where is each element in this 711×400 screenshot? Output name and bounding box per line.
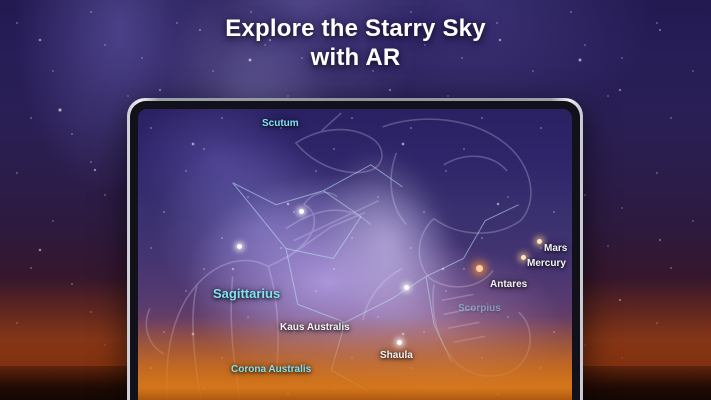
label-scorpius[interactable]: Scorpius [458, 303, 501, 314]
label-corona-australis[interactable]: Corona Australis [231, 364, 311, 375]
screen-horizon-glow [138, 316, 572, 400]
headline-line-1: Explore the Starry Sky [225, 15, 486, 42]
label-scutum[interactable]: Scutum [262, 118, 299, 129]
label-kaus-australis[interactable]: Kaus Australis [280, 322, 350, 333]
label-mars[interactable]: Mars [544, 243, 567, 254]
label-antares[interactable]: Antares [490, 279, 527, 290]
label-sagittarius[interactable]: Sagittarius [213, 286, 280, 301]
headline: Explore the Starry Sky with AR [0, 14, 711, 73]
app-screenshot: Explore the Starry Sky with AR [0, 0, 711, 400]
tablet-device [127, 98, 583, 400]
label-mercury[interactable]: Mercury [527, 258, 566, 269]
tablet-screen[interactable] [138, 109, 572, 400]
label-shaula[interactable]: Shaula [380, 350, 413, 361]
headline-line-2: with AR [0, 43, 711, 72]
tablet-frame [130, 101, 580, 400]
